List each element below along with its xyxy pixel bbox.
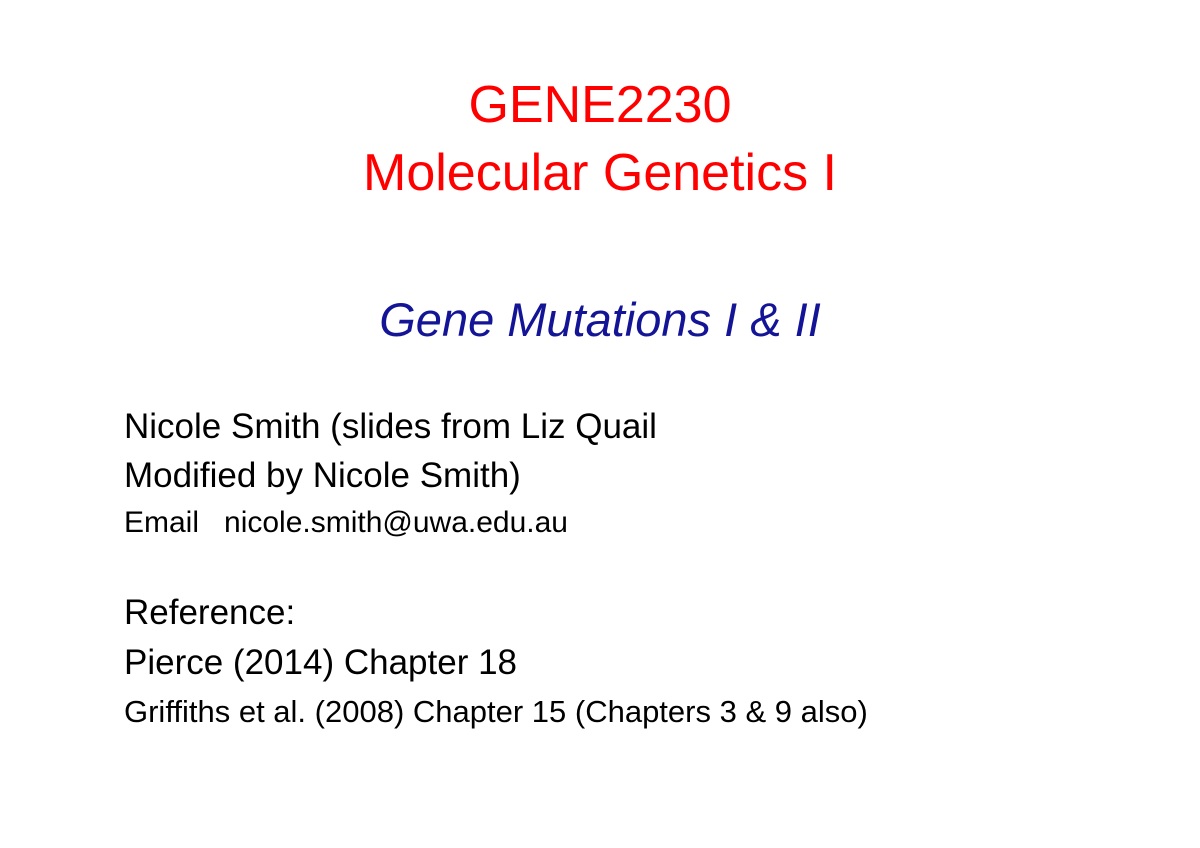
presenter-line-2: Modified by Nicole Smith): [124, 451, 1134, 500]
title-slide: GENE2230 Molecular Genetics I Gene Mutat…: [0, 0, 1200, 848]
reference-item-griffiths: Griffiths et al. (2008) Chapter 15 (Chap…: [124, 688, 1134, 736]
presenter-line-1: Nicole Smith (slides from Liz Quail: [124, 402, 1134, 451]
reference-item-pierce: Pierce (2014) Chapter 18: [124, 638, 1134, 688]
slide-body: Nicole Smith (slides from Liz Quail Modi…: [124, 402, 1134, 736]
lecture-subtitle: Gene Mutations I & II: [0, 292, 1200, 348]
presenter-email: Email nicole.smith@uwa.edu.au: [124, 500, 1134, 546]
body-spacer: [124, 546, 1134, 588]
course-title: GENE2230 Molecular Genetics I: [0, 72, 1200, 207]
reference-heading: Reference:: [124, 588, 1134, 638]
course-code: GENE2230: [0, 72, 1200, 140]
course-name: Molecular Genetics I: [0, 140, 1200, 208]
